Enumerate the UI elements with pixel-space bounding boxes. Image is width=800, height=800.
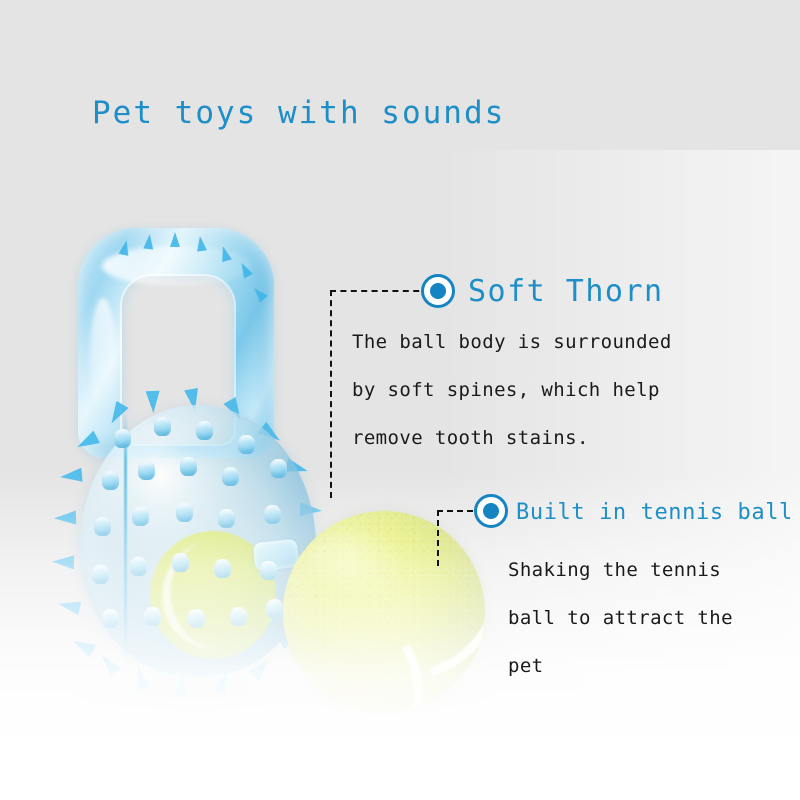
ball-spike [74,431,100,454]
ball-nub-front [154,417,171,436]
ball-nub-front [238,435,255,454]
leader-line-vertical [330,290,332,498]
handle-spike [170,232,180,247]
callout-marker-icon [474,494,508,528]
infographic-page: Pet toys with sounds Soft Thorn The ball… [0,0,800,800]
handle-spike [143,234,155,250]
callout-body-line: by soft spines, which help [352,366,660,414]
ball-nub-front [196,421,213,440]
callout-heading: Soft Thorn [468,274,664,309]
page-title: Pet toys with sounds [92,95,505,131]
callout-heading: Built in tennis ball [516,500,793,525]
leader-line-vertical [437,510,439,566]
callout-body-line: remove tooth stains. [352,414,589,462]
callout-marker-icon [421,274,455,308]
callout-body-line: pet [508,642,544,690]
callout-body-line: The ball body is surrounded [352,318,672,366]
handle-spike [195,235,207,251]
callout-body-line: Shaking the tennis [508,546,721,594]
ball-nub-front [114,429,131,448]
callout-body-line: ball to attract the [508,594,733,642]
ball-spike [146,391,161,413]
